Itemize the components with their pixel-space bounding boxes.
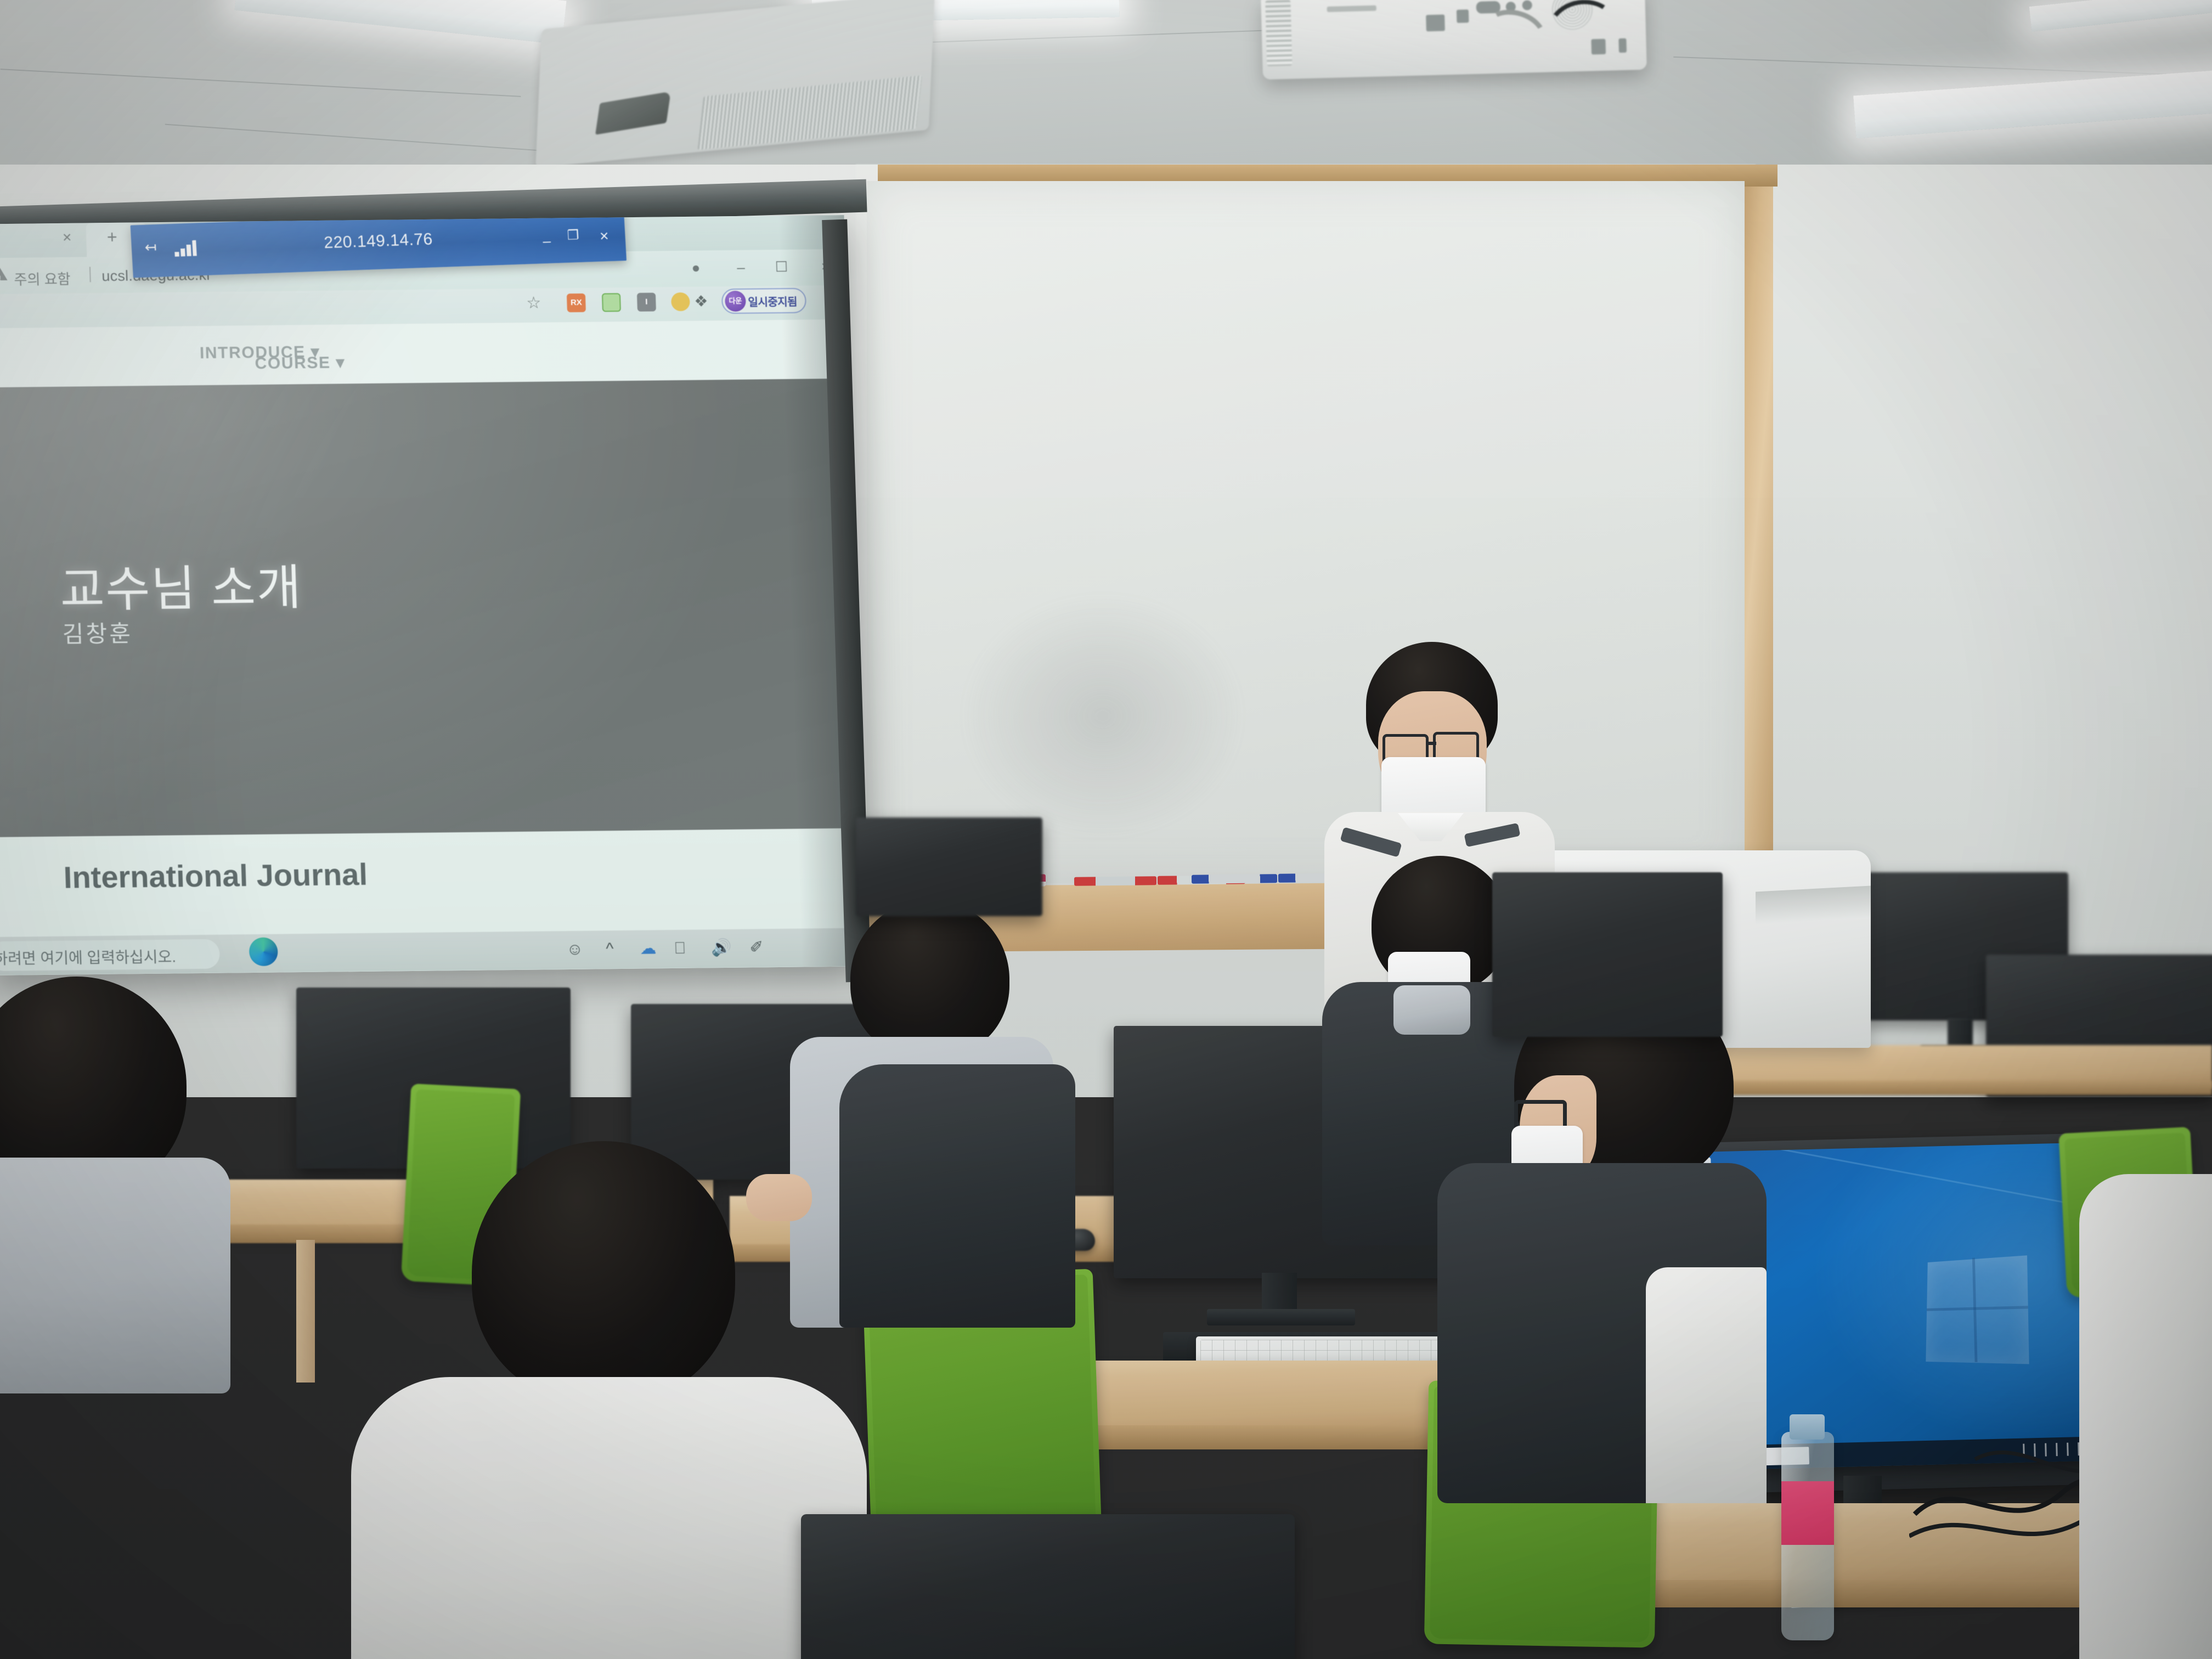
student-hair <box>850 900 1009 1059</box>
marker-red-1 <box>1074 876 1156 886</box>
minimize-icon[interactable]: – <box>731 258 751 276</box>
bookmark-star-icon[interactable]: ☆ <box>526 294 541 313</box>
profile-avatar[interactable]: 다운 <box>725 291 746 312</box>
onedrive-icon[interactable]: ☁ <box>640 938 657 960</box>
remote-close-icon[interactable]: × <box>599 227 609 245</box>
water-bottle-label <box>1781 1481 1834 1545</box>
extension-orange-icon[interactable]: RX <box>567 294 586 312</box>
projection-screen: × + ! 주의 요함 ucsl.daegu.ac.kr ● – ☐ × ☆ R… <box>0 215 868 975</box>
extension-green-icon[interactable] <box>602 293 621 312</box>
vent-louver <box>595 92 671 135</box>
site-navigation <box>0 319 849 388</box>
restore-icon[interactable]: ☐ <box>772 257 791 276</box>
projected-browser-window: × + ! 주의 요함 ucsl.daegu.ac.kr ● – ☐ × ☆ R… <box>0 215 868 975</box>
remote-restore-icon[interactable]: ❐ <box>567 227 579 244</box>
new-tab-icon[interactable]: + <box>103 228 122 247</box>
remote-minimize-icon[interactable]: – <box>543 233 551 250</box>
presenter-glasses-bridge <box>1427 742 1436 745</box>
marker-blue-1 <box>1192 874 1277 884</box>
show-hidden-icons-chevron[interactable]: ^ <box>606 938 614 960</box>
webpage-viewport: INTRODUCE ▾ COURSE ▾ 교수님 소개 김창훈 Internat… <box>0 319 868 975</box>
monitor-bottom-foreground <box>801 1514 1295 1659</box>
student-far-left <box>0 977 263 1361</box>
security-warning-label: 주의 요함 <box>14 268 71 289</box>
student-light-shirt <box>0 1158 230 1393</box>
monitor-behind-screen <box>856 817 1042 916</box>
extension-yellow-icon[interactable] <box>671 292 690 311</box>
classroom-photo-scene: × + ! 주의 요함 ucsl.daegu.ac.kr ● – ☐ × ☆ R… <box>0 0 2212 1659</box>
ceiling-projector <box>1261 0 1647 80</box>
profile-status-label: 일시중지됨 <box>748 292 797 309</box>
search-placeholder-label: 하려면 여기에 입력하십시오. <box>0 945 177 969</box>
people-icon[interactable]: ☺ <box>566 939 584 961</box>
extension-gray-icon[interactable]: I <box>637 293 656 312</box>
student-right-front <box>1426 982 1767 1509</box>
edge-browser-icon[interactable] <box>249 938 278 967</box>
volume-icon[interactable]: 🔊 <box>711 937 732 959</box>
cabinet-slot <box>1756 885 1871 924</box>
hero-section: 교수님 소개 김창훈 <box>0 379 864 837</box>
monitor-mid-right <box>1492 872 1723 1037</box>
remote-desktop-title: 220.149.14.76 <box>131 223 625 259</box>
projector-vent <box>1265 0 1292 66</box>
ceiling <box>0 0 2212 181</box>
student-white-shirt <box>351 1377 867 1659</box>
hero-title: 교수님 소개 <box>59 549 303 621</box>
hero-subtitle: 김창훈 <box>62 615 133 649</box>
water-bottle-cap <box>1790 1414 1825 1440</box>
tab-close-icon[interactable]: × <box>59 230 76 246</box>
student-shirt-collar <box>1646 1267 1767 1503</box>
network-display-icon[interactable]: ⎕ <box>675 938 685 960</box>
chevron-down-icon: ▾ <box>336 353 346 371</box>
whiteboard-reflection <box>960 592 1245 839</box>
extensions-puzzle-icon[interactable]: ❖ <box>694 292 708 311</box>
student-right-edge-sleeve <box>2079 1174 2212 1659</box>
nav-item-course[interactable]: COURSE ▾ <box>255 353 346 373</box>
student-hair <box>472 1141 735 1404</box>
section-title: International Journal <box>63 856 368 895</box>
location-icon[interactable]: ● <box>686 258 706 277</box>
nav-course-label: COURSE <box>255 354 331 373</box>
